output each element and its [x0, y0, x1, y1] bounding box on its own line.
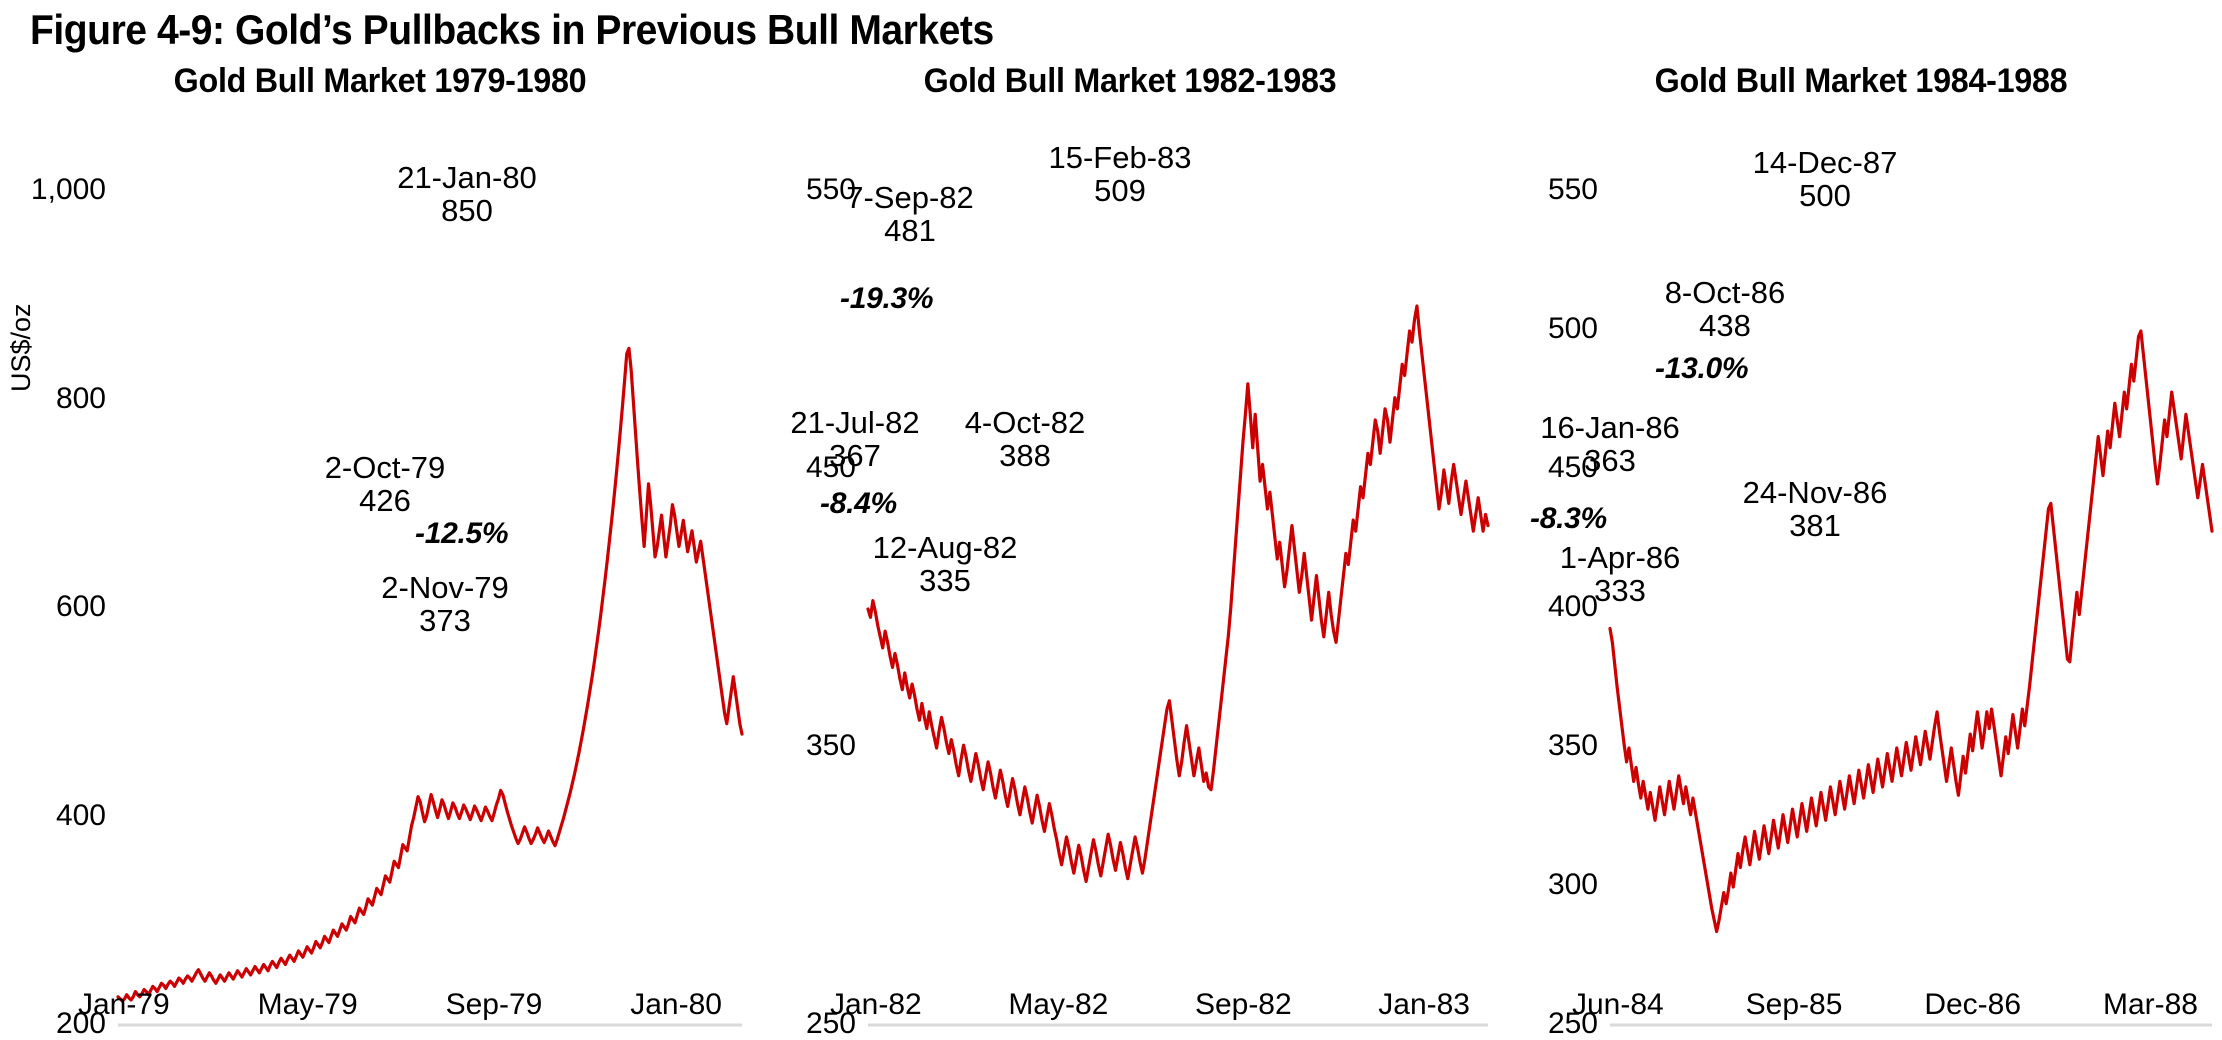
annotation-date: 16-Jan-86: [1540, 410, 1680, 445]
annotation-peak: 21-Jan-80850: [352, 162, 582, 228]
x-axis: Jan-82May-82Sep-82Jan-83: [830, 990, 1470, 1030]
drawdown-label: -8.4%: [820, 487, 897, 521]
figure-container: Figure 4-9: Gold’s Pullbacks in Previous…: [0, 0, 2222, 1040]
figure-title: Figure 4-9: Gold’s Pullbacks in Previous…: [30, 6, 994, 54]
x-axis-tick-label: May-82: [1008, 990, 1108, 1030]
panel-3-plot: 55050045040035030025014-Dec-875008-Oct-8…: [1500, 62, 2222, 1040]
annotation-pullback1-low: 12-Aug-82335: [785, 532, 1105, 598]
annotation-value: 373: [330, 605, 560, 638]
x-axis-tick-label: Sep-79: [446, 990, 543, 1030]
annotation-value: 500: [1675, 180, 1975, 213]
x-axis-tick-label: Mar-88: [2103, 990, 2198, 1030]
annotation-value: 381: [1665, 510, 1965, 543]
annotation-date: 24-Nov-86: [1743, 475, 1888, 510]
chart-panel-3: Gold Bull Market 1984-1988 5505004504003…: [1500, 62, 2222, 1040]
annotation-peak: 14-Dec-87500: [1675, 147, 1975, 213]
annotation-pullback1-low: 1-Apr-86333: [1470, 542, 1770, 608]
annotation-pullback-high: 2-Oct-79426: [280, 452, 490, 518]
drawdown-label: -8.3%: [1530, 502, 1607, 536]
annotation-date: 2-Nov-79: [381, 570, 509, 605]
annotation-value: 363: [1460, 445, 1760, 478]
panel-2-plot: 5504503502507-Sep-8248115-Feb-8350921-Ju…: [760, 62, 1500, 1040]
x-axis-tick-label: Jan-82: [830, 990, 922, 1030]
x-axis-tick-label: Sep-85: [1746, 990, 1843, 1030]
annotation-date: 15-Feb-83: [1048, 140, 1191, 175]
x-axis: Jun-84Sep-85Dec-86Mar-88: [1572, 990, 2198, 1030]
x-axis-tick-label: Jan-83: [1378, 990, 1470, 1030]
annotation-pullback2-low: 4-Oct-82388: [865, 407, 1185, 473]
drawdown-label: -12.5%: [415, 517, 508, 551]
x-axis-tick-label: May-79: [258, 990, 358, 1030]
annotation-date: 14-Dec-87: [1753, 145, 1898, 180]
annotation-value: 388: [865, 440, 1185, 473]
x-axis-tick-label: Jan-80: [630, 990, 722, 1030]
annotation-peak-2: 15-Feb-83509: [960, 142, 1280, 208]
gold-price-series: [118, 348, 742, 1001]
annotation-date: 2-Oct-79: [325, 450, 446, 485]
x-axis: Jan-79May-79Sep-79Jan-80: [78, 990, 722, 1030]
x-axis-tick-label: Dec-86: [1924, 990, 2021, 1030]
annotation-value: 333: [1470, 575, 1770, 608]
x-axis-tick-label: Sep-82: [1195, 990, 1292, 1030]
annotation-value: 481: [750, 215, 1070, 248]
annotation-value: 850: [352, 195, 582, 228]
annotation-pullback-low: 2-Nov-79373: [330, 572, 560, 638]
annotation-value: 509: [960, 175, 1280, 208]
drawdown-label: -19.3%: [840, 282, 933, 316]
annotation-pullback2-high: 8-Oct-86438: [1575, 277, 1875, 343]
annotation-date: 8-Oct-86: [1665, 275, 1786, 310]
annotation-value: 426: [280, 485, 490, 518]
chart-panel-1: Gold Bull Market 1979-1980 US$/oz 1,0008…: [0, 62, 760, 1040]
x-axis-tick-label: Jun-84: [1572, 990, 1664, 1030]
panel-1-plot: 1,00080060040020021-Jan-808502-Oct-79426…: [0, 62, 760, 1040]
annotation-value: 438: [1575, 310, 1875, 343]
drawdown-label: -13.0%: [1655, 352, 1748, 386]
annotation-pullback1-high: 16-Jan-86363: [1460, 412, 1760, 478]
annotation-date: 4-Oct-82: [965, 405, 1086, 440]
chart-panel-2: Gold Bull Market 1982-1983 5504503502507…: [760, 62, 1500, 1040]
annotation-pullback2-low: 24-Nov-86381: [1665, 477, 1965, 543]
annotation-date: 1-Apr-86: [1560, 540, 1681, 575]
x-axis-tick-label: Jan-79: [78, 990, 170, 1030]
annotation-date: 7-Sep-82: [846, 180, 974, 215]
annotation-value: 335: [785, 565, 1105, 598]
annotation-date: 21-Jan-80: [397, 160, 537, 195]
annotation-date: 12-Aug-82: [873, 530, 1018, 565]
